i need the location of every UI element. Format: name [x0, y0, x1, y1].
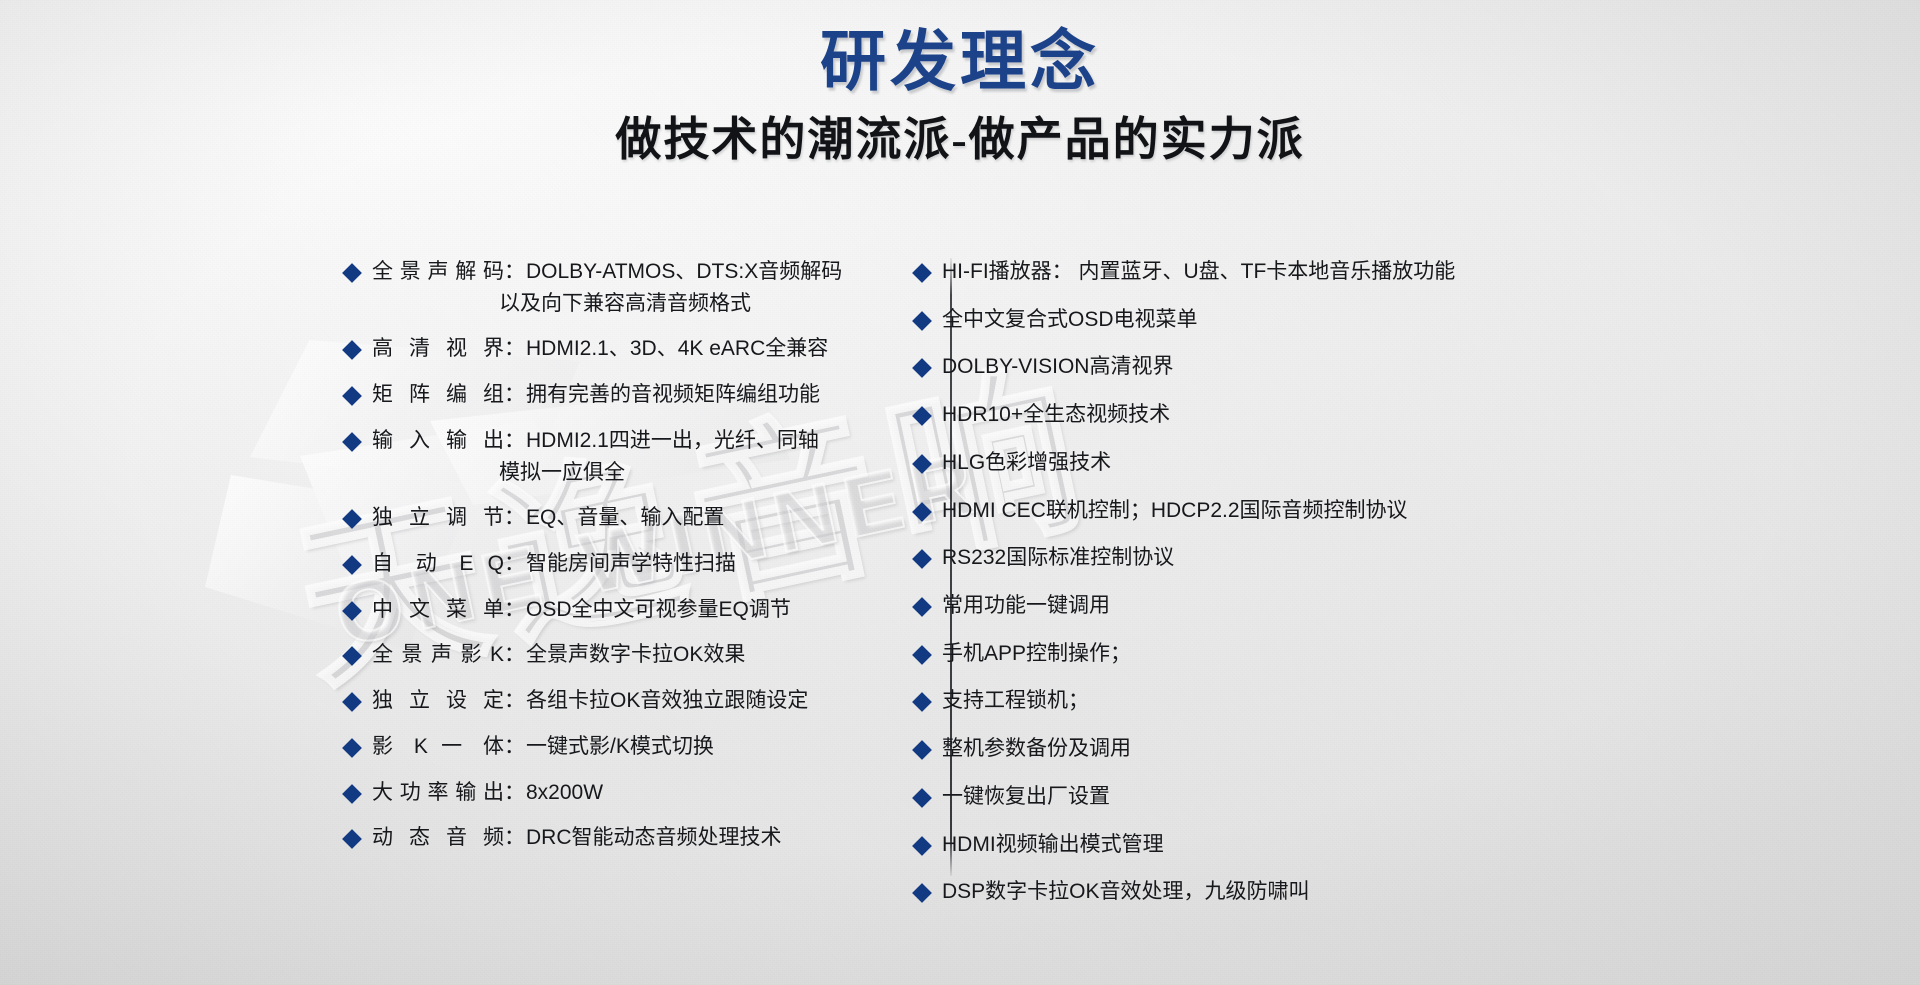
- list-item[interactable]: 全景声影K：全景声数字卡拉OK效果: [345, 641, 845, 669]
- list-item-colon: ：: [504, 335, 526, 363]
- list-item-colon: ：: [504, 258, 526, 286]
- list-item-value: HDMI2.1、3D、4K eARC全兼容: [526, 335, 828, 363]
- list-item[interactable]: 独 立 调 节：EQ、音量、输入配置: [345, 504, 845, 532]
- list-item-colon: ：: [504, 381, 526, 409]
- list-item[interactable]: HDMI视频输出模式管理: [915, 831, 1920, 859]
- diamond-bullet-icon: [912, 740, 932, 760]
- list-item[interactable]: HLG色彩增强技术: [915, 449, 1920, 477]
- list-item-label: 输 入 输 出: [372, 427, 504, 455]
- column-divider: [950, 258, 952, 876]
- page-title: 研发理念: [0, 26, 1920, 100]
- list-item-value: HDR10+全生态视频技术: [942, 401, 1170, 429]
- list-item-label: 影 K 一 体: [372, 733, 504, 761]
- right-feature-list: HI-FI播放器： 内置蓝牙、U盘、TF卡本地音乐播放功能全中文复合式OSD电视…: [845, 258, 1920, 898]
- list-item-value: DOLBY-ATMOS、DTS:X音频解码: [526, 258, 842, 286]
- diamond-bullet-icon: [342, 647, 362, 667]
- diamond-bullet-icon: [342, 386, 362, 406]
- list-item[interactable]: 手机APP控制操作；: [915, 640, 1920, 668]
- list-item-value: 拥有完善的音视频矩阵编组功能: [526, 381, 820, 409]
- list-item-value: 各组卡拉OK音效独立跟随设定: [526, 687, 808, 715]
- diamond-bullet-icon: [912, 883, 932, 903]
- list-item-colon: ：: [504, 824, 526, 852]
- list-item-colon: ：: [504, 427, 526, 455]
- list-item-colon: ：: [504, 687, 526, 715]
- list-item-value: 全中文复合式OSD电视菜单: [942, 306, 1198, 334]
- diamond-bullet-icon: [342, 555, 362, 575]
- heading-block: 研发理念 做技术的潮流派-做产品的实力派: [0, 26, 1920, 167]
- list-item-value: HDMI视频输出模式管理: [942, 831, 1164, 859]
- list-item-value: HI-FI播放器： 内置蓝牙、U盘、TF卡本地音乐播放功能: [942, 258, 1455, 286]
- list-item[interactable]: 大功率输出：8x200W: [345, 779, 845, 807]
- list-item[interactable]: 独 立 设 定：各组卡拉OK音效独立跟随设定: [345, 687, 845, 715]
- feature-columns: 全景声解码：DOLBY-ATMOS、DTS:X音频解码以及向下兼容高清音频格式高…: [0, 258, 1920, 898]
- diamond-bullet-icon: [912, 597, 932, 617]
- list-item-continuation-value: 以及向下兼容高清音频格式: [499, 290, 751, 318]
- list-item[interactable]: 高 清 视 界：HDMI2.1、3D、4K eARC全兼容: [345, 335, 845, 363]
- list-item-colon: ：: [504, 779, 526, 807]
- list-item-value: 一键恢复出厂设置: [942, 783, 1110, 811]
- list-item-value: DSP数字卡拉OK音效处理，九级防啸叫: [942, 878, 1310, 906]
- list-item[interactable]: DSP数字卡拉OK音效处理，九级防啸叫: [915, 878, 1920, 906]
- list-item-value: 整机参数备份及调用: [942, 735, 1131, 763]
- list-item[interactable]: 一键恢复出厂设置: [915, 783, 1920, 811]
- list-item-colon: ：: [504, 641, 526, 669]
- list-item-value: HDMI CEC联机控制；HDCP2.2国际音频控制协议: [942, 497, 1408, 525]
- list-item-colon: ：: [504, 733, 526, 761]
- list-item[interactable]: HDR10+全生态视频技术: [915, 401, 1920, 429]
- list-item-value: RS232国际标准控制协议: [942, 544, 1174, 572]
- list-item-label: 动 态 音 频: [372, 824, 504, 852]
- list-item-value: OSD全中文可视参量EQ调节: [526, 596, 791, 624]
- diamond-bullet-icon: [342, 829, 362, 849]
- diamond-bullet-icon: [912, 502, 932, 522]
- diamond-bullet-icon: [912, 263, 932, 283]
- list-item[interactable]: 全景声解码：DOLBY-ATMOS、DTS:X音频解码: [345, 258, 845, 286]
- slide-canvas: 天逸音响 ONE WINNER 研发理念 做技术的潮流派-做产品的实力派 全景声…: [0, 0, 1920, 985]
- list-item[interactable]: 常用功能一键调用: [915, 592, 1920, 620]
- list-item[interactable]: RS232国际标准控制协议: [915, 544, 1920, 572]
- list-item[interactable]: HI-FI播放器： 内置蓝牙、U盘、TF卡本地音乐播放功能: [915, 258, 1920, 286]
- list-item-value: DRC智能动态音频处理技术: [526, 824, 782, 852]
- list-item[interactable]: 中 文 菜 单：OSD全中文可视参量EQ调节: [345, 596, 845, 624]
- diamond-bullet-icon: [342, 692, 362, 712]
- diamond-bullet-icon: [912, 645, 932, 665]
- diamond-bullet-icon: [342, 738, 362, 758]
- diamond-bullet-icon: [912, 549, 932, 569]
- list-item-value: EQ、音量、输入配置: [526, 504, 724, 532]
- list-item[interactable]: 矩 阵 编 组：拥有完善的音视频矩阵编组功能: [345, 381, 845, 409]
- list-item-value: 支持工程锁机；: [942, 687, 1089, 715]
- list-item-label: 全景声影K: [372, 641, 504, 669]
- list-item-label: 全景声解码: [372, 258, 504, 286]
- diamond-bullet-icon: [912, 836, 932, 856]
- list-item-colon: ：: [504, 550, 526, 578]
- page-subtitle: 做技术的潮流派-做产品的实力派: [0, 114, 1920, 167]
- list-item[interactable]: HDMI CEC联机控制；HDCP2.2国际音频控制协议: [915, 497, 1920, 525]
- list-item-colon: ：: [504, 504, 526, 532]
- list-item[interactable]: 支持工程锁机；: [915, 687, 1920, 715]
- list-item-value: 智能房间声学特性扫描: [526, 550, 736, 578]
- list-item-label: 大功率输出: [372, 779, 504, 807]
- diamond-bullet-icon: [912, 406, 932, 426]
- list-item-label: 独 立 调 节: [372, 504, 504, 532]
- list-item-value: HDMI2.1四进一出，光纤、同轴: [526, 427, 819, 455]
- list-item-colon: ：: [504, 596, 526, 624]
- diamond-bullet-icon: [342, 432, 362, 452]
- list-item[interactable]: 自 动 E Q：智能房间声学特性扫描: [345, 550, 845, 578]
- list-item-value: 全景声数字卡拉OK效果: [526, 641, 745, 669]
- list-item-label: 中 文 菜 单: [372, 596, 504, 624]
- list-item-value: 手机APP控制操作；: [942, 640, 1131, 668]
- list-item-label: 自 动 E Q: [372, 550, 504, 578]
- list-item-label: 高 清 视 界: [372, 335, 504, 363]
- list-item-value: 8x200W: [526, 779, 603, 807]
- diamond-bullet-icon: [342, 341, 362, 361]
- diamond-bullet-icon: [912, 311, 932, 331]
- list-item-value: 常用功能一键调用: [942, 592, 1110, 620]
- list-item-value: DOLBY-VISION高清视界: [942, 353, 1173, 381]
- diamond-bullet-icon: [912, 359, 932, 379]
- left-feature-list: 全景声解码：DOLBY-ATMOS、DTS:X音频解码以及向下兼容高清音频格式高…: [0, 258, 845, 898]
- list-item[interactable]: 全中文复合式OSD电视菜单: [915, 306, 1920, 334]
- list-item-label: 矩 阵 编 组: [372, 381, 504, 409]
- list-item-label: 独 立 设 定: [372, 687, 504, 715]
- diamond-bullet-icon: [912, 454, 932, 474]
- diamond-bullet-icon: [342, 601, 362, 621]
- list-item-value: HLG色彩增强技术: [942, 449, 1111, 477]
- list-item-continuation: 以及向下兼容高清音频格式: [345, 290, 845, 318]
- list-item[interactable]: 输 入 输 出：HDMI2.1四进一出，光纤、同轴: [345, 427, 845, 455]
- list-item[interactable]: 影 K 一 体：一键式影/K模式切换: [345, 733, 845, 761]
- diamond-bullet-icon: [342, 263, 362, 283]
- diamond-bullet-icon: [342, 509, 362, 529]
- diamond-bullet-icon: [912, 693, 932, 713]
- list-item[interactable]: 动 态 音 频：DRC智能动态音频处理技术: [345, 824, 845, 852]
- list-item-continuation: 模拟一应俱全: [345, 459, 845, 487]
- list-item-continuation-value: 模拟一应俱全: [499, 459, 625, 487]
- list-item[interactable]: 整机参数备份及调用: [915, 735, 1920, 763]
- list-item[interactable]: DOLBY-VISION高清视界: [915, 353, 1920, 381]
- list-item-value: 一键式影/K模式切换: [526, 733, 714, 761]
- diamond-bullet-icon: [342, 784, 362, 804]
- diamond-bullet-icon: [912, 788, 932, 808]
